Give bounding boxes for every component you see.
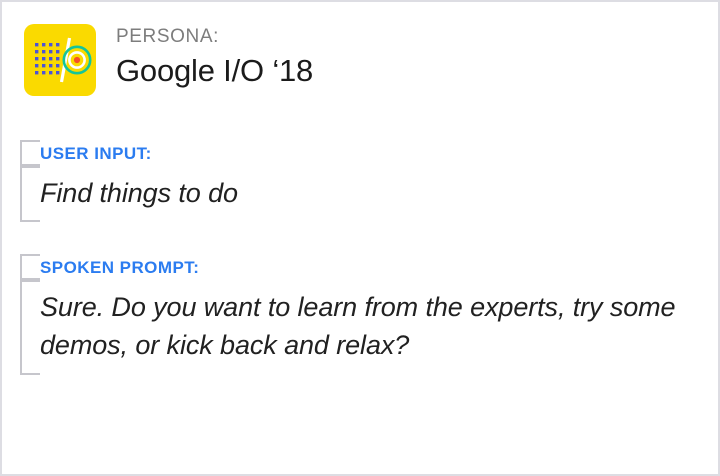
bracket-tick-top: [20, 140, 40, 142]
persona-label: PERSONA:: [116, 26, 313, 49]
persona-header: PERSONA: Google I/O ‘18: [24, 24, 313, 96]
user-input-value-bracket: Find things to do: [20, 166, 238, 222]
user-input-value: Find things to do: [40, 174, 238, 212]
spoken-prompt-label: SPOKEN PROMPT:: [40, 259, 199, 276]
user-input-block: USER INPUT: Find things to do: [20, 140, 238, 222]
spoken-prompt-block: SPOKEN PROMPT: Sure. Do you want to lear…: [20, 254, 680, 375]
persona-card: PERSONA: Google I/O ‘18 USER INPUT: Find…: [0, 0, 720, 476]
bracket-tick-bottom: [20, 220, 40, 222]
spoken-prompt-value: Sure. Do you want to learn from the expe…: [40, 288, 680, 365]
bracket-tick-top: [20, 280, 40, 282]
bracket-tick-top: [20, 254, 40, 256]
user-input-label-bracket: USER INPUT:: [20, 140, 238, 166]
persona-text-group: PERSONA: Google I/O ‘18: [116, 24, 313, 89]
spoken-prompt-label-bracket: SPOKEN PROMPT:: [20, 254, 680, 280]
bracket-tick-bottom: [20, 373, 40, 375]
persona-title: Google I/O ‘18: [116, 52, 313, 89]
google-io-logo-icon: [24, 24, 96, 96]
spoken-prompt-value-bracket: Sure. Do you want to learn from the expe…: [20, 280, 680, 375]
bracket-tick-top: [20, 166, 40, 168]
user-input-label: USER INPUT:: [40, 145, 152, 162]
